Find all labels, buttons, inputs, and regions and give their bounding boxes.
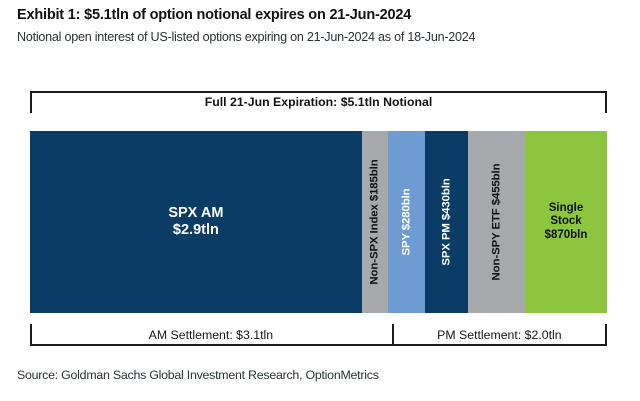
am-settlement-label: AM Settlement: $3.1tln	[30, 328, 392, 342]
bar-segment-label-spx-am: SPX AM $2.9tln	[168, 205, 223, 239]
pm-settlement-label: PM Settlement: $2.0tln	[392, 328, 607, 342]
top-bracket: Full 21-Jun Expiration: $5.1tln Notional	[30, 91, 607, 117]
bar-segment-label-spy: SPY $280bln	[400, 188, 412, 255]
bar-segment-spy[interactable]: SPY $280bln	[388, 131, 425, 313]
top-bracket-line	[30, 91, 607, 93]
bar-segment-label-spx-pm: SPX PM $430bln	[440, 178, 452, 265]
pm-settlement-bracket-line	[392, 344, 607, 346]
bar-segment-label-non-spy-etf: Non-SPY ETF $455bln	[490, 164, 502, 281]
bar-segment-single-stock[interactable]: Single Stock $870bln	[525, 131, 607, 313]
bar-segment-non-spx-index[interactable]: Non-SPX Index $185bln	[362, 131, 388, 313]
bar-track: SPX AM $2.9tln Non-SPX Index $185bln SPY…	[30, 131, 607, 313]
bar-segment-label-single-stock: Single Stock $870bln	[545, 202, 588, 243]
stacked-bar-chart: Full 21-Jun Expiration: $5.1tln Notional…	[0, 0, 640, 401]
bottom-brackets: AM Settlement: $3.1tln PM Settlement: $2…	[30, 320, 607, 346]
bar-segment-spx-pm[interactable]: SPX PM $430bln	[425, 131, 468, 313]
bar-segment-spx-am[interactable]: SPX AM $2.9tln	[30, 131, 362, 313]
exhibit-page: Exhibit 1: $5.1tln of option notional ex…	[0, 0, 640, 401]
top-bracket-label: Full 21-Jun Expiration: $5.1tln Notional	[30, 95, 607, 109]
bar-segment-label-non-spx-index: Non-SPX Index $185bln	[369, 159, 381, 284]
am-settlement-bracket-line	[30, 344, 392, 346]
bar-segment-non-spy-etf[interactable]: Non-SPY ETF $455bln	[468, 131, 525, 313]
source-note: Source: Goldman Sachs Global Investment …	[17, 368, 379, 382]
